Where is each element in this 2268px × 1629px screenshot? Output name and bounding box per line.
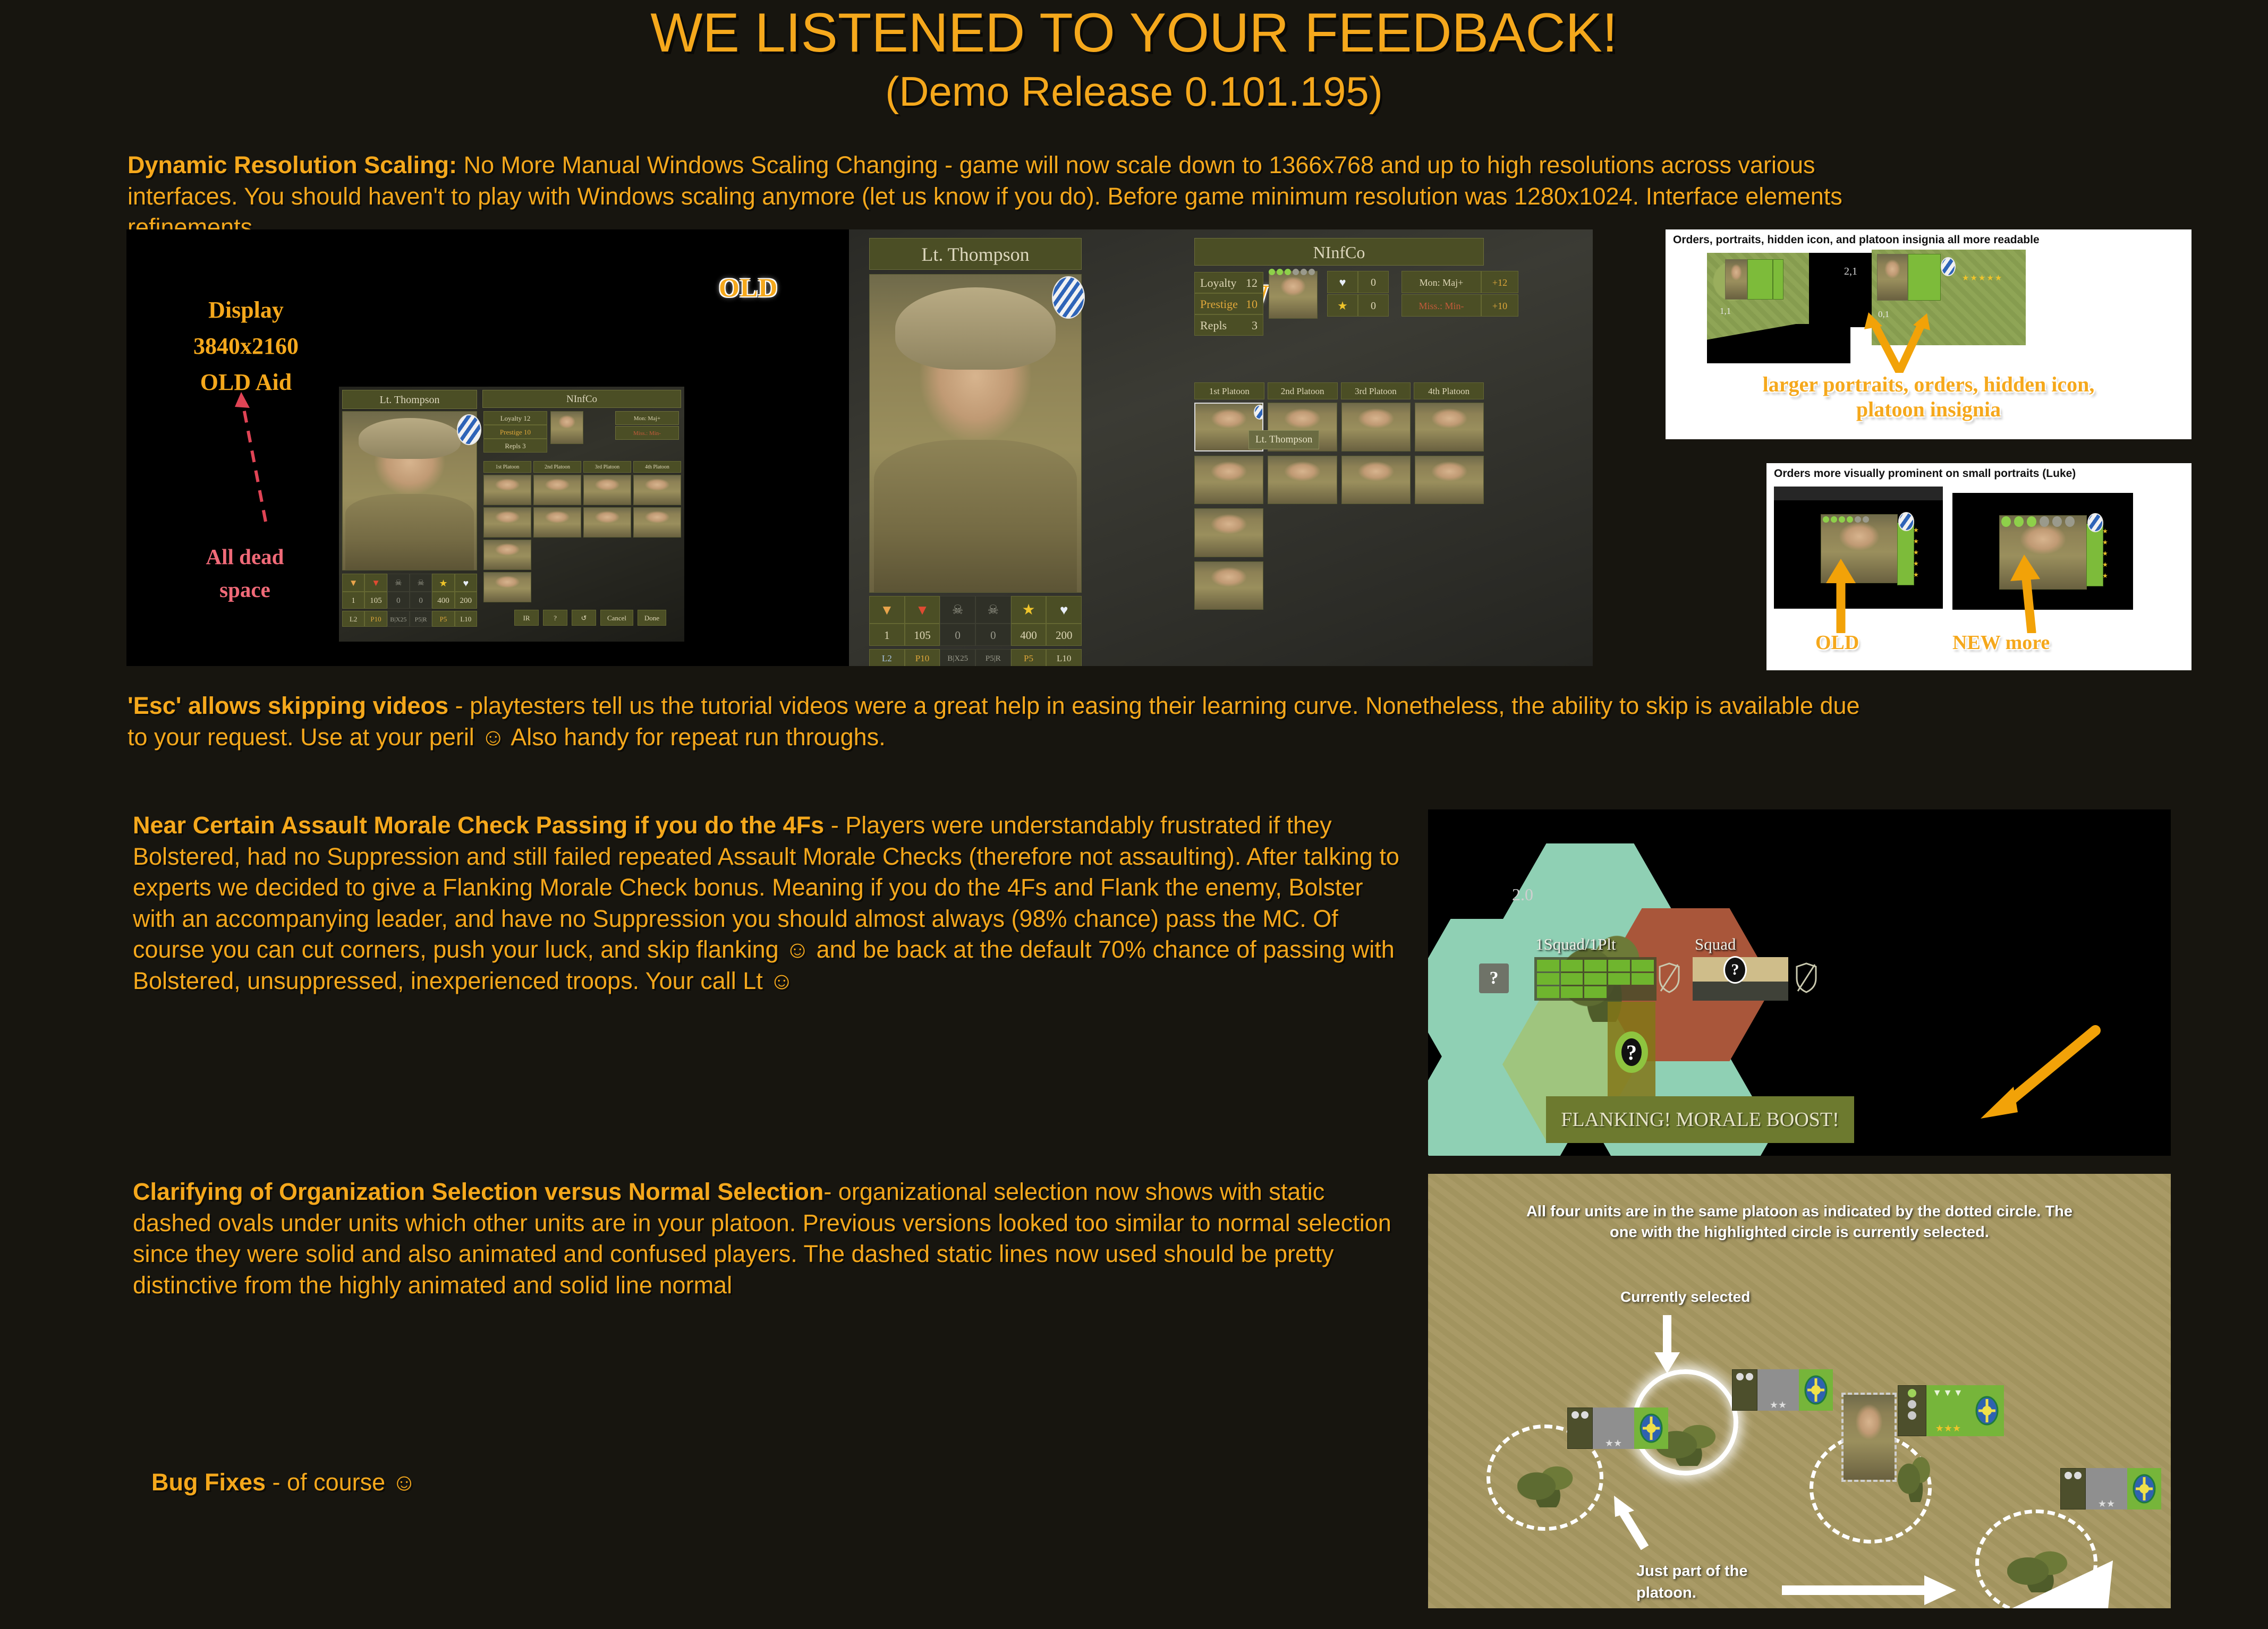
- old-footer-value: 0: [387, 592, 410, 609]
- white-arrow-right-icon: [1779, 1569, 1959, 1608]
- platoon-unit[interactable]: [1415, 403, 1484, 451]
- platoon-shield-icon: [1975, 1396, 1999, 1426]
- hidden-unit-question-icon: ?: [1723, 956, 1747, 984]
- platoon-caption-line1: All four units are in the same platoon a…: [1428, 1201, 2171, 1222]
- body-morale-check: - Players were understandably frustrated…: [133, 812, 1399, 994]
- slide-root: WE LISTENED TO YOUR FEEDBACK! (Demo Rele…: [0, 0, 2268, 1629]
- stat-value: 12: [1246, 272, 1258, 293]
- white-arrow-up-left-icon: [1606, 1487, 1653, 1551]
- old-footer-icons: ▼ ▼ ☠ ☠ ★ ♥: [342, 574, 477, 592]
- unit-stars: ★★: [1757, 1369, 1799, 1411]
- old-platoon-header: 3rd Platoon: [583, 461, 631, 473]
- old-footer-values: 1 105 0 0 400 200: [342, 592, 477, 609]
- platoon-caption-line2: one with the highlighted circle is curre…: [1428, 1222, 2171, 1243]
- old-platoon-headers: 1st Platoon 2nd Platoon 3rd Platoon 4th …: [483, 461, 681, 473]
- old-display-line1: Display: [158, 292, 334, 328]
- stat-label: Repls: [1200, 315, 1227, 335]
- card-bottom-caption: Orders more visually prominent on small …: [1774, 467, 2076, 480]
- new-platoon-header[interactable]: 3rd Platoon: [1341, 382, 1411, 399]
- new-footer-value: 1: [869, 624, 905, 646]
- old-character-title: Lt. Thompson: [342, 390, 477, 409]
- hidden-unit-question-icon: ?: [1615, 1031, 1648, 1073]
- heading-esc-skip: 'Esc' allows skipping videos: [128, 692, 448, 719]
- skull-alt-icon: ☠: [975, 596, 1011, 624]
- order-pips-small-large: [2001, 516, 2075, 527]
- old-footer-label: B|X25: [387, 611, 410, 627]
- unit-chip-platoon[interactable]: ★★: [1567, 1408, 1668, 1449]
- rank-stars-icon: ★★★★★: [1962, 273, 2003, 283]
- new-footer-value: 0: [940, 624, 975, 646]
- stat-value: 3: [1252, 315, 1258, 335]
- new-footer-icons: ▼ ▼ ☠ ☠ ★ ♥: [869, 596, 1082, 624]
- old-footer-value: 1: [342, 592, 364, 609]
- old-footer-label: P10: [364, 611, 387, 627]
- old-button-ir[interactable]: IR: [514, 610, 539, 626]
- orange-arrow-up-icon-new: [2008, 548, 2051, 633]
- unit-chip-new: [1877, 254, 1957, 301]
- new-footer-value: 200: [1046, 624, 1082, 646]
- heading-org-selection: Clarifying of Organization Selection ver…: [133, 1178, 823, 1205]
- old-company-stats: Loyalty 12 Prestige 10 Repls 3: [483, 411, 547, 453]
- order-pips-small: [1823, 516, 1869, 523]
- old-company-title: NInfCo: [482, 390, 681, 408]
- unit-strength-grid-left: [1534, 957, 1657, 1001]
- old-button-help[interactable]: ?: [543, 610, 567, 626]
- page-subtitle: (Demo Release 0.101.195): [0, 67, 2268, 116]
- stat-label: Loyalty: [1200, 272, 1236, 293]
- unit-stars: ★★: [1593, 1408, 1634, 1449]
- star-icon: ★: [1011, 596, 1047, 624]
- screenshot-old-aid: Display 3840x2160 OLD Aid All dead space…: [126, 229, 849, 666]
- old-footer-label: P5|R: [410, 611, 432, 627]
- old-platoon-insignia-icon: [457, 414, 481, 445]
- hex-value-left: 2.0: [1512, 885, 1533, 905]
- old-button-cancel[interactable]: Cancel: [600, 610, 633, 626]
- old-footer-value: 200: [455, 592, 477, 609]
- old-dead-space-label: All dead space: [157, 541, 333, 606]
- platoon-insignia-icon: [1254, 405, 1263, 420]
- new-footer-labels: L2 P10 B|X25 P5|R P5 L10: [869, 649, 1082, 666]
- mission-box-value: +12: [1481, 271, 1518, 293]
- page-header: WE LISTENED TO YOUR FEEDBACK! (Demo Rele…: [0, 4, 2268, 116]
- new-company-title: NInfCo: [1194, 238, 1484, 266]
- star-icon: ★: [1327, 294, 1358, 317]
- new-platoon-insignia-icon: [1052, 276, 1085, 319]
- unit-label-left: 1Squad/1Plt: [1535, 935, 1616, 954]
- flanking-banner: FLANKING! MORALE BOOST!: [1546, 1096, 1854, 1143]
- rank-stars-icon: ★★★★★: [1913, 525, 1919, 581]
- happy-mask-icon: ▼: [869, 596, 905, 624]
- new-commander-portrait: [1269, 271, 1318, 319]
- orange-double-arrow-icon: [1841, 298, 1958, 373]
- new-footer-value: 0: [975, 624, 1011, 646]
- platoon-unit[interactable]: [1194, 561, 1263, 610]
- label-old: OLD: [1815, 631, 1859, 654]
- old-button-undo[interactable]: ↺: [572, 610, 596, 626]
- old-footer-label: P5: [432, 611, 454, 627]
- old-action-buttons: IR ? ↺ Cancel Done: [514, 610, 666, 626]
- old-display-label: Display 3840x2160 OLD Aid: [158, 292, 334, 401]
- platoon-shield-icon: [1804, 1375, 1828, 1405]
- mission-box-label: Miss.: Min-: [1401, 294, 1481, 317]
- annotation-card-orders-prominence: Orders more visually prominent on small …: [1766, 463, 2191, 670]
- page-title: WE LISTENED TO YOUR FEEDBACK!: [0, 4, 2268, 62]
- dead-space-line2: space: [157, 574, 333, 607]
- new-footer-label: P10: [905, 649, 940, 666]
- heading-dynamic-resolution: Dynamic Resolution Scaling:: [128, 151, 457, 178]
- new-company-stats: Loyalty 12 Prestige 10 Repls 3: [1194, 272, 1263, 336]
- old-footer-value: 0: [410, 592, 432, 609]
- old-footer-label: L10: [455, 611, 477, 627]
- card-top-note-line2: platoon insignia: [1666, 397, 2191, 422]
- hidden-unit-question-icon: ?: [1479, 963, 1509, 993]
- heading-morale-check: Near Certain Assault Morale Check Passin…: [133, 812, 824, 839]
- shield-disabled-icon: [1795, 962, 1818, 994]
- old-footer-value: 105: [364, 592, 387, 609]
- old-button-done[interactable]: Done: [638, 610, 666, 626]
- new-footer-values: 1 105 0 0 400 200: [869, 624, 1082, 646]
- new-platoon-header[interactable]: 2nd Platoon: [1268, 382, 1338, 399]
- unit-stars: ★★★: [1935, 1423, 1961, 1434]
- unit-chip-selected[interactable]: ★★: [1732, 1369, 1833, 1411]
- hex-coord-label-mid: 2,1: [1844, 266, 1857, 278]
- old-platoon-header: 4th Platoon: [633, 461, 681, 473]
- platoon-unit[interactable]: [1341, 403, 1411, 451]
- paragraph-org-selection: Clarifying of Organization Selection ver…: [133, 1176, 1403, 1301]
- old-platoon-header: 2nd Platoon: [533, 461, 581, 473]
- new-footer-label: B|X25: [940, 649, 975, 666]
- white-arrow-down-icon: [1651, 1313, 1683, 1376]
- old-platoon-header: 1st Platoon: [483, 461, 531, 473]
- order-chevrons-icon: ▼▼▼: [1932, 1387, 1964, 1398]
- platoon-unit[interactable]: [1268, 456, 1337, 505]
- orange-arrow-down-left-icon: [1965, 1022, 2103, 1123]
- unit-label-right: Squad: [1695, 935, 1736, 954]
- skull-icon: ☠: [940, 596, 975, 624]
- old-commander-portrait: [550, 411, 583, 444]
- body-bug-fixes: - of course ☺: [266, 1469, 417, 1496]
- hex-coord-label: 1,1: [1720, 306, 1731, 317]
- old-footer-label: L2: [342, 611, 364, 627]
- old-mission-box: Mon: Maj+: [615, 411, 679, 425]
- label-new-more: NEW more: [1952, 631, 2050, 654]
- new-order-pips: [1269, 269, 1315, 275]
- new-platoon-headers: 1st Platoon 2nd Platoon 3rd Platoon 4th …: [1194, 382, 1484, 399]
- image-platoon-selection: All four units are in the same platoon a…: [1428, 1174, 2171, 1608]
- paragraph-morale-check: Near Certain Assault Morale Check Passin…: [133, 810, 1403, 996]
- paragraph-esc-skip: 'Esc' allows skipping videos - playteste…: [128, 690, 1875, 753]
- heart-icon: ♥: [1046, 596, 1082, 624]
- unit-chip-old: [1725, 259, 1783, 300]
- old-character-portrait: [342, 411, 477, 570]
- old-footer-labels: L2 P10 B|X25 P5|R P5 L10: [342, 611, 477, 627]
- star-count: 0: [1358, 294, 1389, 317]
- label-part-platoon-line2: platoon.: [1636, 1582, 1747, 1604]
- new-footer-label: P5|R: [975, 649, 1011, 666]
- screenshot-new-aid: NEW Lt. Thompson ▼ ▼ ☠ ☠ ★ ♥ 1 105 0 0 4…: [849, 229, 1593, 666]
- mission-box-value: +10: [1481, 294, 1518, 317]
- platoon-unit[interactable]: [1415, 456, 1484, 505]
- new-footer-label: P5: [1011, 649, 1047, 666]
- new-platoon-grid: [1194, 403, 1484, 610]
- rank-stars-icon: ★★★★★: [2102, 526, 2108, 582]
- paragraph-bug-fixes: Bug Fixes - of course ☺: [151, 1467, 789, 1498]
- old-platoon-grid: [483, 475, 681, 602]
- old-display-line2: 3840x2160: [158, 328, 334, 364]
- label-part-platoon-line1: Just part of the: [1636, 1560, 1747, 1582]
- platoon-unit[interactable]: [1194, 508, 1263, 557]
- angry-mask-icon: ▼: [905, 596, 940, 624]
- new-platoon-header[interactable]: 1st Platoon: [1194, 382, 1264, 399]
- unit-tooltip: Lt. Thompson: [1248, 430, 1319, 449]
- annotation-card-readability: Orders, portraits, hidden icon, and plat…: [1666, 229, 2191, 439]
- old-footer-value: 400: [432, 592, 454, 609]
- stat-value: 10: [1246, 294, 1258, 314]
- platoon-shield-icon: [1640, 1413, 1663, 1443]
- old-mission-box: Miss.: Min-: [615, 426, 679, 440]
- badge-old: OLD: [719, 272, 778, 303]
- heart-icon: ♥: [1327, 271, 1358, 293]
- orange-arrow-up-icon-old: [1820, 553, 1862, 633]
- old-game-ui: Lt. Thompson ▼ ▼ ☠ ☠ ★ ♥ 1 105 0 0 400 2…: [339, 387, 684, 642]
- label-currently-selected: Currently selected: [1620, 1289, 1750, 1306]
- new-character-title: Lt. Thompson: [869, 238, 1082, 270]
- stat-label: Prestige: [1200, 294, 1238, 314]
- leader-portrait[interactable]: [1841, 1393, 1897, 1482]
- unit-chip-leader[interactable]: ▼▼▼ ★★★: [1898, 1385, 2004, 1436]
- mission-box-label: Mon: Maj+: [1401, 271, 1481, 293]
- heart-count: 0: [1358, 271, 1389, 293]
- new-footer-value: 105: [905, 624, 940, 646]
- platoon-unit[interactable]: [1341, 456, 1411, 505]
- dead-space-arrow-icon: [233, 389, 275, 527]
- card-top-caption: Orders, portraits, hidden icon, and plat…: [1673, 234, 2040, 246]
- platoon-unit[interactable]: [1194, 456, 1263, 505]
- image-flanking-morale-boost: 2.0 3.0 1Squad/1Plt Squad ? ? ? FLANKING: [1428, 809, 2171, 1156]
- card-top-note-line1: larger portraits, orders, hidden icon,: [1666, 372, 2191, 397]
- new-footer-value: 400: [1011, 624, 1047, 646]
- new-footer-label: L10: [1046, 649, 1082, 666]
- heading-bug-fixes: Bug Fixes: [151, 1469, 266, 1496]
- dead-space-line1: All dead: [157, 541, 333, 574]
- shield-disabled-icon: [1658, 962, 1681, 994]
- new-character-portrait: [869, 274, 1082, 593]
- new-platoon-header[interactable]: 4th Platoon: [1414, 382, 1484, 399]
- new-footer-label: L2: [869, 649, 905, 666]
